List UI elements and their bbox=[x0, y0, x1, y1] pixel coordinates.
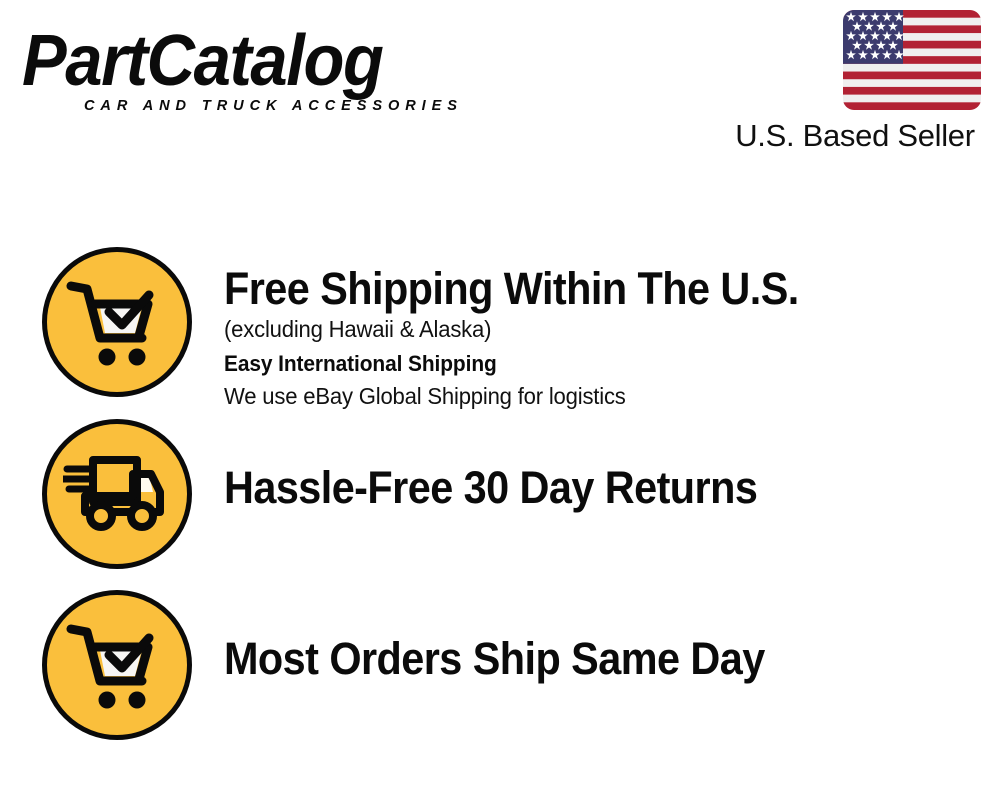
logo-wordmark: PartCatalog bbox=[22, 24, 459, 98]
feature-title: Free Shipping Within The U.S. bbox=[224, 264, 938, 313]
logo-tagline: CAR AND TRUCK ACCESSORIES bbox=[84, 98, 463, 114]
us-based-seller-label: U.S. Based Seller bbox=[724, 118, 986, 154]
feature-subtitle: (excluding Hawaii & Alaska) bbox=[224, 313, 969, 345]
feature-row: Hassle-Free 30 Day Returns bbox=[0, 419, 1000, 589]
cart-check-icon bbox=[42, 247, 192, 397]
delivery-truck-icon bbox=[42, 419, 192, 569]
partcatalog-logo: PartCatalog CAR AND TRUCK ACCESSORIES bbox=[22, 24, 492, 114]
feature-row: Free Shipping Within The U.S. (excluding… bbox=[0, 247, 1000, 417]
banner-header: PartCatalog CAR AND TRUCK ACCESSORIES bbox=[0, 0, 1000, 170]
seller-info-banner: PartCatalog CAR AND TRUCK ACCESSORIES bbox=[0, 0, 1000, 800]
us-flag-icon bbox=[843, 10, 981, 110]
feature-row: Most Orders Ship Same Day bbox=[0, 590, 1000, 760]
feature-title: Hassle-Free 30 Day Returns bbox=[224, 463, 938, 512]
cart-check-icon bbox=[42, 590, 192, 740]
feature-text-block: Hassle-Free 30 Day Returns bbox=[224, 419, 1000, 512]
feature-title: Most Orders Ship Same Day bbox=[224, 634, 938, 683]
feature-subheading: Easy International Shipping bbox=[224, 347, 961, 380]
feature-text-block: Free Shipping Within The U.S. (excluding… bbox=[224, 247, 1000, 412]
feature-detail: We use eBay Global Shipping for logistic… bbox=[224, 380, 969, 412]
feature-text-block: Most Orders Ship Same Day bbox=[224, 590, 1000, 683]
